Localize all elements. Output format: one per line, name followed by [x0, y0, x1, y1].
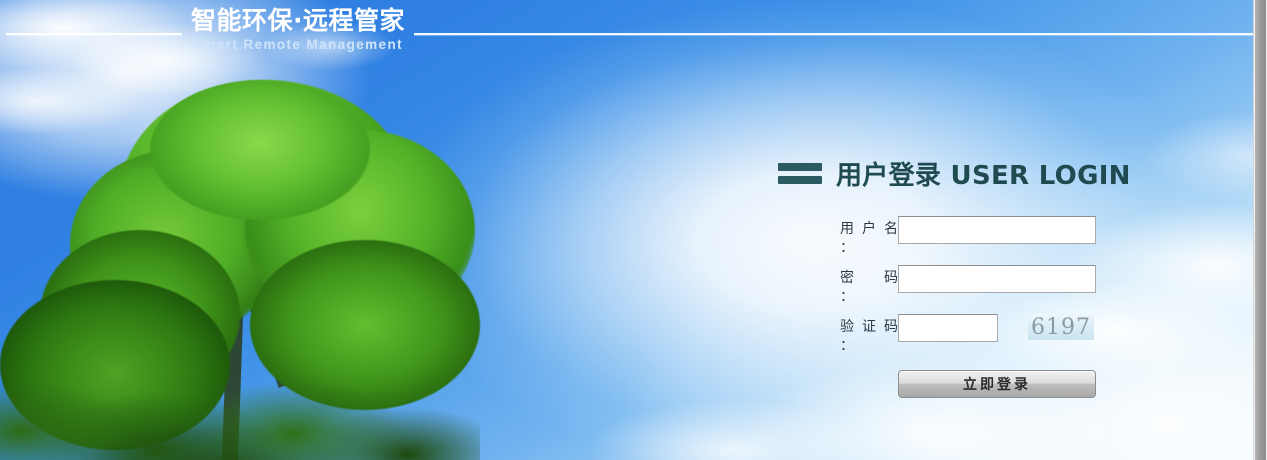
brand: 智能环保·远程管家 Smart Remote Management — [186, 6, 410, 53]
double-bar-icon — [778, 163, 822, 184]
username-label-colon: ： — [840, 239, 898, 258]
captcha-label: 验证码 ： — [840, 314, 898, 356]
captcha-label-colon: ： — [840, 337, 898, 356]
captcha-input[interactable] — [898, 314, 998, 342]
password-label-text: 密 码 — [840, 269, 898, 288]
password-label-colon: ： — [840, 288, 898, 307]
login-panel: 用户登录 USER LOGIN 用户名 ： 密 码 ： 验证码 — [778, 152, 1178, 398]
login-button[interactable]: 立即登录 — [898, 370, 1096, 398]
captcha-image[interactable]: 6197 — [1028, 314, 1094, 340]
login-heading: 用户登录 USER LOGIN — [778, 152, 1178, 194]
brand-subtitle: Smart Remote Management — [186, 37, 410, 53]
scrollbar-thumb[interactable] — [1255, 0, 1266, 460]
vertical-scrollbar[interactable] — [1253, 0, 1267, 460]
brand-title: 智能环保·远程管家 — [186, 6, 410, 36]
password-input[interactable] — [898, 265, 1096, 293]
header-rule-left — [6, 33, 182, 35]
page-header: 智能环保·远程管家 Smart Remote Management — [0, 0, 1267, 70]
header-rule-right — [414, 33, 1253, 35]
password-label: 密 码 ： — [840, 265, 898, 307]
username-label: 用户名 ： — [840, 216, 898, 258]
captcha-row: 验证码 ： 6197 — [840, 314, 1178, 356]
login-page: 智能环保·远程管家 Smart Remote Management 用户登录 U… — [0, 0, 1267, 460]
username-label-text: 用户名 — [840, 220, 898, 239]
login-form: 用户名 ： 密 码 ： 验证码 ： 6197 — [840, 216, 1178, 398]
submit-row: 立即登录 — [898, 370, 1178, 398]
login-heading-text: 用户登录 USER LOGIN — [836, 155, 1131, 192]
password-row: 密 码 ： — [840, 265, 1178, 307]
username-input[interactable] — [898, 216, 1096, 244]
captcha-label-text: 验证码 — [840, 318, 898, 337]
username-row: 用户名 ： — [840, 216, 1178, 258]
